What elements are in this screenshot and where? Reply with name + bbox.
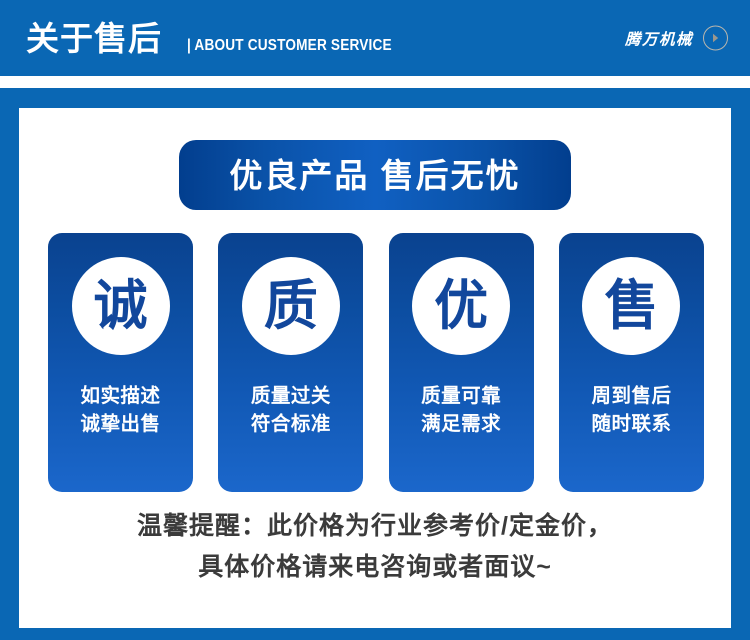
arrow-right-circle-icon[interactable] (703, 26, 728, 51)
badge-circle: 优 (412, 257, 510, 355)
badge-circle: 质 (242, 257, 340, 355)
feature-card-line2: 满足需求 (421, 411, 501, 439)
badge-circle: 诚 (72, 257, 170, 355)
badge-character: 质 (264, 279, 318, 333)
badge-character: 售 (604, 279, 658, 333)
header-title-group: 关于售后 | ABOUT CUSTOMER SERVICE (26, 22, 406, 55)
feature-card-line1: 如实描述 (80, 383, 160, 411)
feature-card: 质 质量过关 符合标准 (218, 233, 363, 492)
badge-circle: 售 (582, 257, 680, 355)
feature-card-line2: 符合标准 (251, 411, 331, 439)
feature-card: 优 质量可靠 满足需求 (389, 233, 534, 492)
feature-card-line2: 诚挚出售 (80, 411, 160, 439)
feature-card-list: 诚 如实描述 诚挚出售 质 质量过关 符合标准 (48, 233, 704, 492)
feature-card-line1: 质量过关 (251, 383, 331, 411)
page-header: 关于售后 | ABOUT CUSTOMER SERVICE 腾万机械 (0, 0, 750, 76)
feature-card-line1: 周到售后 (591, 383, 671, 411)
badge-character: 诚 (94, 279, 148, 333)
feature-card-text: 周到售后 随时联系 (591, 383, 671, 438)
content-panel-frame: 优良产品 售后无忧 诚 如实描述 诚挚出售 质 (0, 88, 750, 640)
section-heading-text: 优良产品 售后无忧 (229, 159, 520, 192)
note-line1: 温馨提醒：此价格为行业参考价/定金价， (19, 506, 731, 547)
note-line2: 具体价格请来电咨询或者面议~ (19, 547, 731, 588)
feature-card-text: 质量过关 符合标准 (251, 383, 331, 438)
feature-card: 诚 如实描述 诚挚出售 (48, 233, 193, 492)
page-subtitle-english: | ABOUT CUSTOMER SERVICE (187, 37, 392, 55)
badge-character: 优 (434, 279, 488, 333)
promo-banner-page: 关于售后 | ABOUT CUSTOMER SERVICE 腾万机械 优良产品 … (0, 0, 750, 640)
brand-group[interactable]: 腾万机械 (625, 26, 728, 51)
brand-label: 腾万机械 (625, 27, 693, 49)
feature-card-text: 如实描述 诚挚出售 (80, 383, 160, 438)
content-panel-inner: 优良产品 售后无忧 诚 如实描述 诚挚出售 质 (19, 108, 731, 628)
feature-card-line1: 质量可靠 (421, 383, 501, 411)
price-disclaimer-note: 温馨提醒：此价格为行业参考价/定金价， 具体价格请来电咨询或者面议~ (19, 506, 731, 589)
feature-card: 售 周到售后 随时联系 (559, 233, 704, 492)
feature-card-text: 质量可靠 满足需求 (421, 383, 501, 438)
page-title: 关于售后 (26, 22, 162, 55)
section-heading-ribbon: 优良产品 售后无忧 (179, 140, 571, 210)
feature-card-line2: 随时联系 (591, 411, 671, 439)
